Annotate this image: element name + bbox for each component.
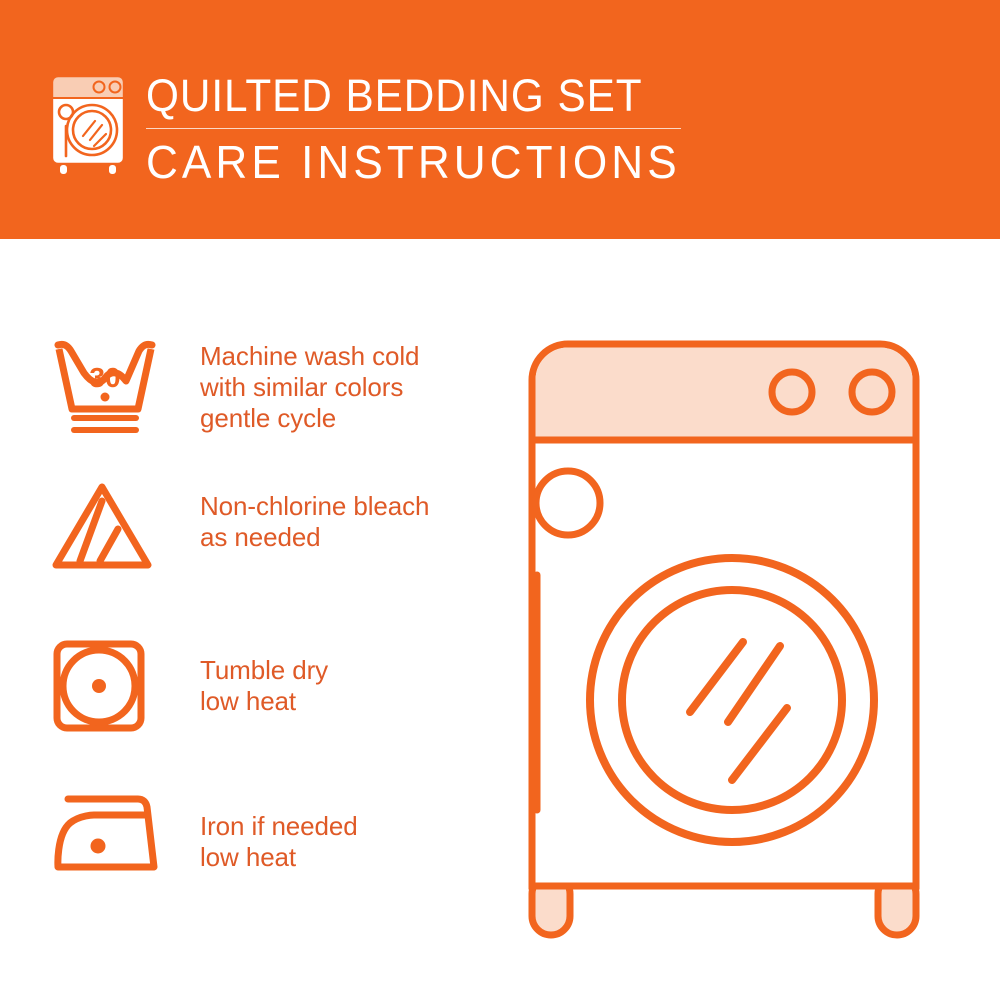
care-label-iron: Iron if needed low heat [200,811,358,873]
header-banner: QUILTED BEDDING SET CARE INSTRUCTIONS [0,0,1000,239]
washing-machine-icon [42,72,138,176]
care-instructions-page: QUILTED BEDDING SET CARE INSTRUCTIONS 30… [0,0,1000,1000]
care-instructions-list: 30 Machine wash cold with similar colors… [0,239,500,1000]
wash-temperature-label: 30 [89,362,120,393]
control-knob-left [772,372,812,412]
care-label-tumble-dry: Tumble dry low heat [200,655,328,717]
title-divider [146,128,681,129]
header-title-block: QUILTED BEDDING SET CARE INSTRUCTIONS [146,70,766,188]
tumble-dry-icon [50,637,150,732]
control-knob-right [852,372,892,412]
care-label-wash: Machine wash cold with similar colors ge… [200,341,419,434]
washing-machine-illustration [480,320,980,940]
iron-icon [50,789,165,879]
care-label-bleach: Non-chlorine bleach as needed [200,491,429,553]
page-subtitle: CARE INSTRUCTIONS [146,136,741,188]
page-title: QUILTED BEDDING SET [146,70,729,122]
bleach-triangle-icon [50,479,160,574]
wash-tub-icon: 30 [50,339,160,439]
